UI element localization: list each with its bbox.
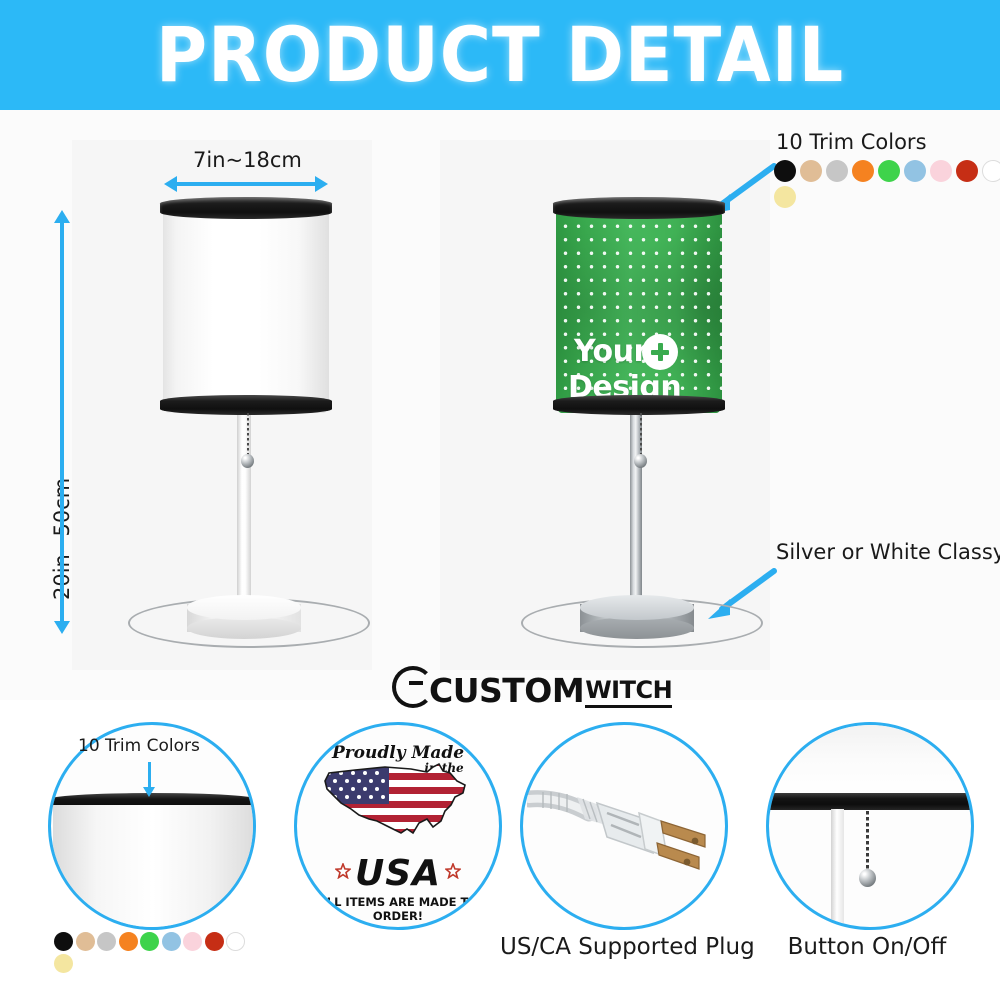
trim-swatch-pink[interactable] xyxy=(930,160,952,182)
trim-swatch-white[interactable] xyxy=(982,160,1000,182)
trim-swatch-green[interactable] xyxy=(140,932,159,951)
on-off-pull-chain[interactable] xyxy=(866,811,869,873)
logo-primary-text: CUSTOM xyxy=(429,674,584,708)
on-off-chain-ball[interactable] xyxy=(859,869,876,887)
base-finish-callout-label: Silver or White Classy xyxy=(776,540,1000,564)
trim-swatch-gray[interactable] xyxy=(97,932,116,951)
trim-colors-callout-label: 10 Trim Colors xyxy=(776,130,927,154)
trim-swatch-yellow[interactable] xyxy=(54,954,73,973)
usa-big-text: USA xyxy=(297,853,499,894)
trim-swatch-red[interactable] xyxy=(956,160,978,182)
usa-map-flag-icon xyxy=(315,759,483,851)
width-dimension-label: 7in~18cm xyxy=(193,148,302,172)
trim-swatch-black[interactable] xyxy=(54,932,73,951)
trim-swatch-red[interactable] xyxy=(205,932,224,951)
trim-swatch-yellow[interactable] xyxy=(774,186,796,208)
green-shade-bottom-trim xyxy=(553,395,725,415)
green-lamp-chain-ball[interactable] xyxy=(634,454,647,468)
page-title: PRODUCT DETAIL xyxy=(40,14,960,96)
trim-swatch-black[interactable] xyxy=(774,160,796,182)
plug-circle xyxy=(520,722,728,930)
usa-badge: Proudly Made in the xyxy=(297,725,499,927)
on-off-shade-surface xyxy=(766,725,974,795)
white-lamp-shade xyxy=(163,203,329,413)
trim-color-swatches-top[interactable] xyxy=(774,160,1000,208)
made-in-usa-circle: Proudly Made in the xyxy=(294,722,502,930)
green-lamp-shade: Your Design xyxy=(556,203,722,413)
trim-swatch-green[interactable] xyxy=(878,160,900,182)
main-scene: 7in~18cm 20in~50cm xyxy=(0,110,1000,700)
white-shade-bottom-trim xyxy=(160,395,332,415)
usa-star-right-icon xyxy=(445,863,461,879)
trim-swatch-gray[interactable] xyxy=(826,160,848,182)
logo-c-mark-icon xyxy=(392,666,434,708)
trim-swatch-orange[interactable] xyxy=(119,932,138,951)
usa-sub-text: ALL ITEMS ARE MADE TO ORDER! xyxy=(297,895,499,923)
feature-trim-colors-label: 10 Trim Colors xyxy=(78,736,200,756)
trim-swatch-white[interactable] xyxy=(226,932,245,951)
feature-button-caption: Button On/Off xyxy=(752,934,982,960)
green-lamp-pull-chain[interactable] xyxy=(640,413,642,457)
feature-trim-colors: 10 Trim Colors xyxy=(42,722,262,990)
trim-swatch-pink[interactable] xyxy=(183,932,202,951)
white-lamp-base xyxy=(187,595,301,639)
on-off-pole xyxy=(831,809,844,927)
feature-plug-caption: US/CA Supported Plug xyxy=(500,934,750,960)
on-off-trim-band xyxy=(766,793,974,810)
your-design-line1: Your xyxy=(574,335,648,368)
usa-star-left-icon xyxy=(335,863,351,879)
white-shade-top-trim xyxy=(160,197,332,219)
green-shade-top-trim xyxy=(553,197,725,219)
button-on-off-circle xyxy=(766,722,974,930)
trim-swatch-light-blue[interactable] xyxy=(162,932,181,951)
white-lamp-chain-ball[interactable] xyxy=(241,454,254,468)
feature-trim-colors-arrow xyxy=(148,762,151,788)
header-banner: PRODUCT DETAIL xyxy=(0,0,1000,110)
white-shade-surface xyxy=(163,203,329,413)
trim-swatch-light-blue[interactable] xyxy=(904,160,926,182)
product-detail-page: PRODUCT DETAIL 7in~18cm 20in~50cm xyxy=(0,0,1000,1000)
feature-plug: US/CA Supported Plug xyxy=(500,722,750,990)
feature-shade-surface xyxy=(53,805,253,929)
trim-swatch-tan[interactable] xyxy=(800,160,822,182)
logo-secondary-text: WITCH xyxy=(585,678,672,703)
feature-button-on-off: Button On/Off xyxy=(752,722,982,990)
trim-color-swatches-bottom[interactable] xyxy=(54,932,254,973)
power-plug-icon xyxy=(527,761,723,891)
trim-swatch-orange[interactable] xyxy=(852,160,874,182)
white-lamp-pull-chain[interactable] xyxy=(247,413,249,457)
feature-made-in-usa: Proudly Made in the xyxy=(288,722,508,990)
height-dimension-arrow xyxy=(60,222,64,622)
width-dimension-arrow xyxy=(176,182,316,186)
brand-logo: CUSTOM WITCH xyxy=(392,666,672,708)
green-lamp-base xyxy=(580,595,694,639)
trim-swatch-tan[interactable] xyxy=(76,932,95,951)
add-design-plus-icon[interactable] xyxy=(642,334,678,370)
logo-underline xyxy=(585,705,672,708)
